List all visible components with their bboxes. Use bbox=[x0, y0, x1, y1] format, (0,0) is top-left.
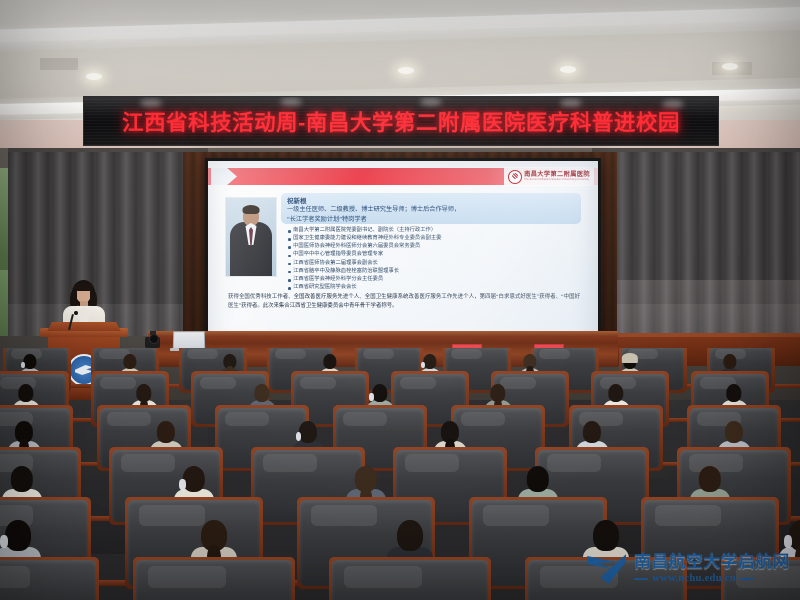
hospital-logo: 南昌大学第二附属医院 The Second Affiliated Hospita… bbox=[504, 167, 594, 186]
audience-head bbox=[527, 466, 549, 492]
site-watermark: 南昌航空大学启航网 www.nchu.edu.cn bbox=[587, 552, 790, 586]
lecture-hall-photo: 江西省科技活动周-南昌大学第二附属医院医疗科普进校园 南昌大学第二附属医院 Th… bbox=[0, 0, 800, 600]
audience-head bbox=[699, 466, 721, 492]
slide-bullet-item: 南昌大学第二附属医院党委副书记、副院长（主持行政工作） bbox=[288, 228, 586, 234]
seat-highlight bbox=[547, 454, 601, 471]
seat-highlight bbox=[300, 377, 336, 389]
slide-bullet-text: 江西省脑卒中及静脉血栓栓塞防治联盟理事长 bbox=[293, 269, 399, 275]
speaker-credential-line-2: “长江学者奖励计划”特岗学者 bbox=[287, 214, 367, 223]
face-mask bbox=[421, 362, 425, 368]
audience-head bbox=[299, 421, 317, 443]
seat-highlight bbox=[275, 349, 306, 360]
slide-bullet-list: 南昌大学第二附属医院党委副书记、副院长（主持行政工作）国家卫生健康委能力建设和继… bbox=[288, 228, 586, 293]
bullet-dot-icon bbox=[288, 279, 291, 282]
audience-head bbox=[5, 520, 31, 551]
slide-bullet-text: 中国医师协会神经外科医师分会第六届委员会常务委员 bbox=[293, 244, 420, 250]
seat-highlight bbox=[121, 454, 175, 471]
downlight bbox=[398, 67, 414, 74]
speaker-fringe bbox=[74, 283, 93, 291]
seat-highlight bbox=[400, 377, 436, 389]
hospital-name-en: The Second Affiliated Hospital of Nancha… bbox=[524, 179, 590, 182]
stage-table-right-top bbox=[600, 333, 800, 337]
seat-highlight bbox=[405, 454, 459, 471]
seat-highlight bbox=[200, 377, 236, 389]
slide-bullet-text: 中国卒中中心管理指导委员会管理专家 bbox=[293, 252, 383, 258]
slide-paragraph: 获得全国优秀科技工作者、全国改善医疗服务先进个人、全国卫生健康系统改善医疗服务工… bbox=[228, 293, 580, 311]
slide-bullet-item: 江西省医师协会第二届理事会副会长 bbox=[288, 261, 586, 267]
bullet-dot-icon bbox=[288, 287, 291, 290]
rule-left bbox=[634, 578, 648, 580]
audience-head bbox=[397, 520, 423, 551]
audience-head bbox=[123, 354, 136, 369]
audience-seat bbox=[332, 560, 488, 600]
watermark-site-name: 南昌航空大学启航网 bbox=[634, 554, 790, 571]
seat-highlight bbox=[451, 349, 482, 360]
face-mask bbox=[784, 535, 792, 548]
seat-highlight bbox=[539, 349, 570, 360]
face-mask bbox=[0, 535, 8, 548]
seat-highlight bbox=[100, 377, 136, 389]
downlight bbox=[560, 66, 576, 73]
podium-lectern bbox=[44, 322, 124, 331]
seat-highlight bbox=[311, 505, 377, 526]
speaker-credentials-box: 祝新根 一级主任医师、二级教授、博士研究生导师；博士后合作导师， “长江学者奖励… bbox=[281, 193, 581, 224]
audience-head bbox=[583, 421, 601, 443]
rule-right bbox=[740, 578, 754, 580]
downlight bbox=[722, 63, 738, 70]
ceiling-vent bbox=[40, 58, 78, 70]
audience-head bbox=[18, 384, 33, 402]
nchu-arrow-logo-icon bbox=[587, 552, 627, 586]
audience-head bbox=[593, 520, 619, 551]
audience-head bbox=[23, 354, 36, 369]
seat-highlight bbox=[263, 454, 317, 471]
audience-head bbox=[183, 466, 205, 492]
projection-screen-frame: 南昌大学第二附属医院 The Second Affiliated Hospita… bbox=[205, 158, 601, 360]
slide-bullet-item: 江西省脑卒中及静脉血栓栓塞防治联盟理事长 bbox=[288, 269, 586, 275]
slide-bullet-text: 江西省医学会神经外科学分会主任委员 bbox=[293, 277, 383, 283]
camera-top bbox=[150, 331, 156, 335]
audience-head bbox=[11, 466, 33, 492]
slide-bullet-item: 中国卒中中心管理指导委员会管理专家 bbox=[288, 252, 586, 258]
seat-highlight bbox=[0, 566, 30, 588]
bullet-dot-icon bbox=[288, 246, 291, 249]
watermark-url-row: www.nchu.edu.cn bbox=[634, 574, 790, 585]
slide-bullet-item: 国家卫生健康委能力建设和继续教育神经外科专业委员会副主委 bbox=[288, 236, 586, 242]
seat-highlight bbox=[461, 412, 505, 426]
bullet-dot-icon bbox=[288, 255, 291, 258]
slide-bullet-text: 江西省医师协会第二届理事会副会长 bbox=[293, 261, 378, 267]
speaker-portrait bbox=[225, 197, 277, 277]
camera-lens-icon bbox=[149, 334, 159, 344]
bullet-dot-icon bbox=[288, 230, 291, 233]
hospital-logo-text: 南昌大学第二附属医院 The Second Affiliated Hospita… bbox=[524, 172, 590, 181]
seat-highlight bbox=[107, 412, 151, 426]
microphone-head-icon bbox=[74, 311, 78, 315]
slide-bullet-item: 中国医师协会神经外科医师分会第六届委员会常务委员 bbox=[288, 244, 586, 250]
slide-bullet-text: 南昌大学第二附属医院党委副书记、副院长（主持行政工作） bbox=[293, 228, 436, 234]
audience-seat bbox=[136, 560, 292, 600]
face-mask bbox=[179, 479, 186, 490]
hospital-crest-icon bbox=[508, 170, 522, 184]
seat-highlight bbox=[655, 505, 721, 526]
seat-highlight bbox=[343, 412, 387, 426]
seat-highlight bbox=[344, 566, 422, 588]
audience-head bbox=[372, 384, 387, 402]
bullet-dot-icon bbox=[288, 263, 291, 266]
bullet-dot-icon bbox=[288, 238, 291, 241]
seat-highlight bbox=[225, 412, 269, 426]
audience-seat bbox=[0, 560, 96, 600]
seat-highlight bbox=[363, 349, 394, 360]
audience-head bbox=[157, 421, 175, 443]
audience-head bbox=[723, 354, 736, 369]
stage-table-top bbox=[148, 331, 618, 336]
seat-highlight bbox=[483, 505, 549, 526]
audience-head bbox=[254, 384, 269, 402]
slide-bullet-item: 江西省研究型医院学会会长 bbox=[288, 285, 586, 291]
projection-screen: 南昌大学第二附属医院 The Second Affiliated Hospita… bbox=[208, 161, 598, 357]
audience-head bbox=[725, 421, 743, 443]
seat-highlight bbox=[148, 566, 226, 588]
logo-arrow-lower bbox=[600, 554, 626, 584]
baseball-cap bbox=[622, 353, 638, 363]
audience-head bbox=[323, 354, 336, 369]
audience-head bbox=[726, 384, 741, 402]
speaker-credential-line-1: 一级主任医师、二级教授、博士研究生导师；博士后合作导师， bbox=[287, 204, 460, 213]
seat-highlight bbox=[187, 349, 218, 360]
banner-title-text: 江西省科技活动周-南昌大学第二附属医院医疗科普进校园 bbox=[84, 97, 718, 145]
slide-bullet-item: 江西省医学会神经外科学分会主任委员 bbox=[288, 277, 586, 283]
slide-bullet-text: 国家卫生健康委能力建设和继续教育神经外科专业委员会副主委 bbox=[293, 236, 441, 242]
slide-bullet-text: 江西省研究型医院学会会长 bbox=[293, 285, 357, 291]
bullet-dot-icon bbox=[288, 271, 291, 274]
portrait-hair bbox=[243, 205, 260, 214]
led-banner: 江西省科技活动周-南昌大学第二附属医院医疗科普进校园 bbox=[83, 96, 719, 146]
watermark-text: 南昌航空大学启航网 www.nchu.edu.cn bbox=[634, 554, 790, 584]
watermark-url: www.nchu.edu.cn bbox=[652, 574, 736, 585]
audience-head bbox=[423, 354, 436, 369]
downlight bbox=[86, 73, 102, 80]
audience-head bbox=[608, 384, 623, 402]
face-mask bbox=[369, 393, 374, 401]
face-mask bbox=[21, 362, 25, 368]
